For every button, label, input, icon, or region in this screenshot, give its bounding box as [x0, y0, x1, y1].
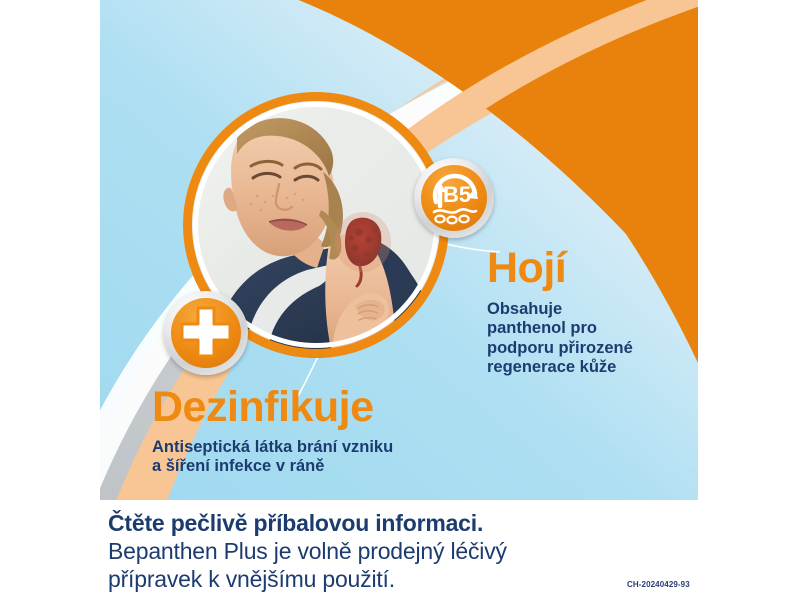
benefit-title-hoji: Hojí [487, 247, 566, 290]
footer-text-line-2: přípravek k vnějšímu použití. [108, 566, 395, 593]
benefit-line: podporu přirozené [487, 339, 633, 358]
footer-headline: Čtěte pečlivě příbalovou informaci. [108, 510, 483, 537]
cross-badge-glyph [164, 291, 248, 375]
medical-cross-icon [164, 291, 248, 375]
benefit-title-dezinfikuje: Dezinfikuje [152, 386, 374, 429]
advertisement-banner: B5 Hojí Obsahuje panthenol pro podporu p… [0, 0, 800, 600]
benefit-line: Antiseptická látka brání vzniku [152, 438, 393, 457]
benefit-line: a šíření infekce v ráně [152, 457, 393, 476]
benefit-line: regenerace kůže [487, 358, 633, 377]
b5-vitamin-icon: B5 [414, 158, 494, 238]
reference-code: CH-20240429-93 [627, 580, 690, 589]
benefit-line: panthenol pro [487, 319, 633, 338]
benefit-description-dezinfikuje: Antiseptická látka brání vzniku a šíření… [152, 438, 393, 477]
b5-label: B5 [443, 182, 471, 207]
b5-badge-glyphs: B5 [414, 158, 494, 238]
footer-text-line-1: Bepanthen Plus je volně prodejný léčivý [108, 538, 507, 565]
legal-footer: Čtěte pečlivě příbalovou informaci. Bepa… [0, 500, 800, 600]
benefit-description-hoji: Obsahuje panthenol pro podporu přirozené… [487, 300, 633, 378]
benefit-line: Obsahuje [487, 300, 633, 319]
